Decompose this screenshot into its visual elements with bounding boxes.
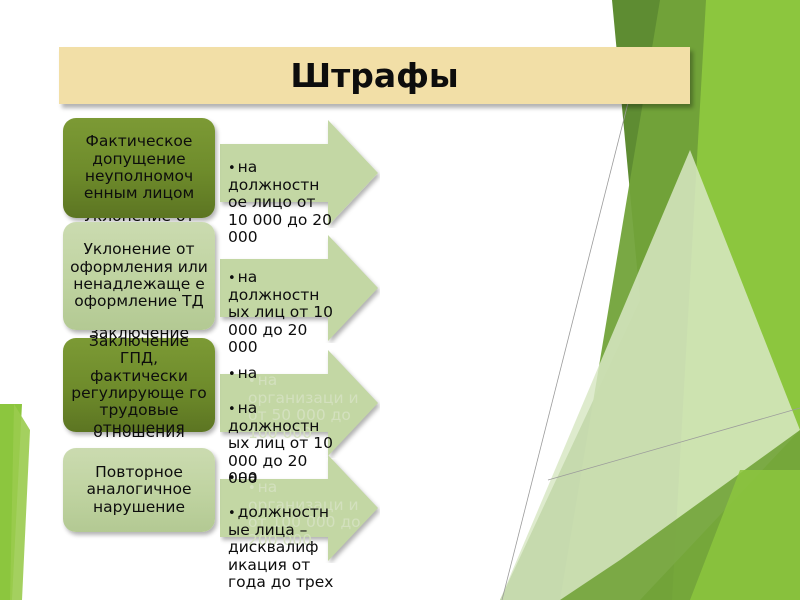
label-box-2-text: Уклонение от оформления или ненадлежаще … [69, 241, 209, 310]
decor-shape-left-sliver [0, 404, 22, 600]
arrow-text-line: на должностн ых лиц от 10 000 до 20 000 [228, 269, 340, 356]
decor-shape-lower-wedge [560, 430, 800, 600]
arrow-text-1: на должностн ое лицо от 10 000 до 20 000 [228, 142, 340, 264]
page-title: Штрафы [59, 47, 690, 104]
arrow-text-line: на [228, 469, 340, 487]
decor-shape-bright-column [672, 0, 800, 600]
arrow-text-4: на должностн ые лица – дисквалиф икация … [228, 452, 340, 600]
decor-hairline-2 [548, 408, 800, 480]
arrow-text-line: на [228, 365, 340, 383]
label-box-1[interactable]: Фактическое допущение неуполномоч енным … [63, 118, 215, 218]
arrow-text-line: должностн ые лица – дисквалиф икация от … [228, 504, 340, 591]
arrow-text-line: на должностн ое лицо от 10 000 до 20 000 [228, 159, 340, 246]
label-box-4-text: Повторное аналогичное нарушение [69, 464, 209, 516]
label-box-3-text: Заключение ГПД, фактически регулирующе г… [69, 333, 209, 437]
label-box-2[interactable]: Уклонение от оформления или ненадлежаще … [63, 222, 215, 330]
slide-canvas: Штрафы на организаци и от 50 000 до 100 … [0, 0, 800, 600]
label-box-3[interactable]: Заключение ГПД, фактически регулирующе г… [63, 338, 215, 432]
label-box-4[interactable]: Повторное аналогичное нарушение [63, 448, 215, 532]
decor-hairline-1 [502, 95, 630, 600]
label-box-1-text: Фактическое допущение неуполномоч енным … [69, 133, 209, 202]
decor-shape-lower-bright [690, 470, 800, 600]
decor-shape-left-sliver-2 [10, 404, 30, 600]
title-banner: Штрафы [59, 47, 690, 104]
decor-shape-pale-triangle [500, 150, 800, 600]
